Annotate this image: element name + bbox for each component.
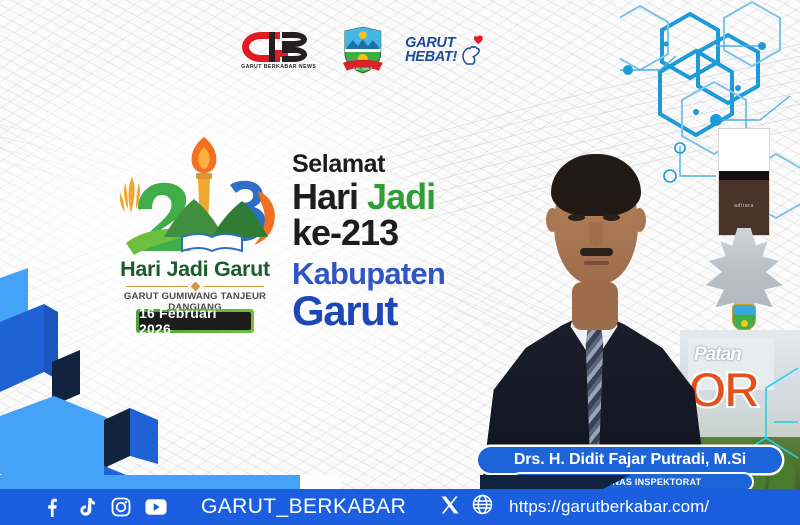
tiktok-icon[interactable] [75,496,97,518]
header-logo-row: GARUT BERKABAR NEWS KAB. GARUT GARUT HEB… [236,22,486,80]
footer-right-icons [440,494,493,520]
gb-mark-icon [242,32,316,62]
portrait-ear-right [633,208,646,232]
portrait-eye-left [568,214,585,221]
garut-hebat-line2: HEBAT! [405,51,457,65]
footer-accent-notch [300,475,340,489]
facebook-icon[interactable] [40,496,62,518]
portrait-eye-right [603,214,620,221]
hero-jadi: Jadi [367,176,435,217]
monument-sign: adirara [718,128,770,236]
footer-url: https://garutberkabar.com/ [509,497,709,517]
portrait-ear-left [546,208,559,232]
portrait-moustache [580,248,613,256]
heart-hand-icon [460,34,486,68]
logo-213-mark [104,133,286,259]
hero-hari: Hari [292,176,367,217]
footer-social-icons [40,496,167,518]
svg-text:KAB. GARUT: KAB. GARUT [354,67,373,71]
gb-logo: GARUT BERKABAR NEWS [236,32,321,70]
footer-accent-strip [0,475,300,489]
monument-sign-text: adirara [719,203,769,209]
left-geometric-shapes [0,268,180,498]
garut-hebat-logo: GARUT HEBAT! [405,34,486,68]
monument-emblem [732,304,756,330]
footer-handle: GARUT_BERKABAR [201,495,406,519]
globe-icon[interactable] [472,494,493,520]
logo-book-icon [182,234,242,251]
portrait-mouth [584,261,609,265]
portrait-nose [589,222,603,246]
youtube-icon[interactable] [145,496,167,518]
official-name-plate: Drs. H. Didit Fajar Putradi, M.Si [478,447,782,473]
garut-regency-seal-icon: KAB. GARUT [341,25,385,77]
poster-canvas: adirara Patan OR GARUT BERKABAR NEWS [0,0,800,525]
x-twitter-icon[interactable] [440,495,460,520]
gb-logo-caption: GARUT BERKABAR NEWS [241,64,316,70]
portrait-neck [572,282,618,330]
official-portrait [470,122,720,497]
instagram-icon[interactable] [110,496,132,518]
footer-bar: GARUT_BERKABAR https://garutberkabar.com… [0,489,800,525]
